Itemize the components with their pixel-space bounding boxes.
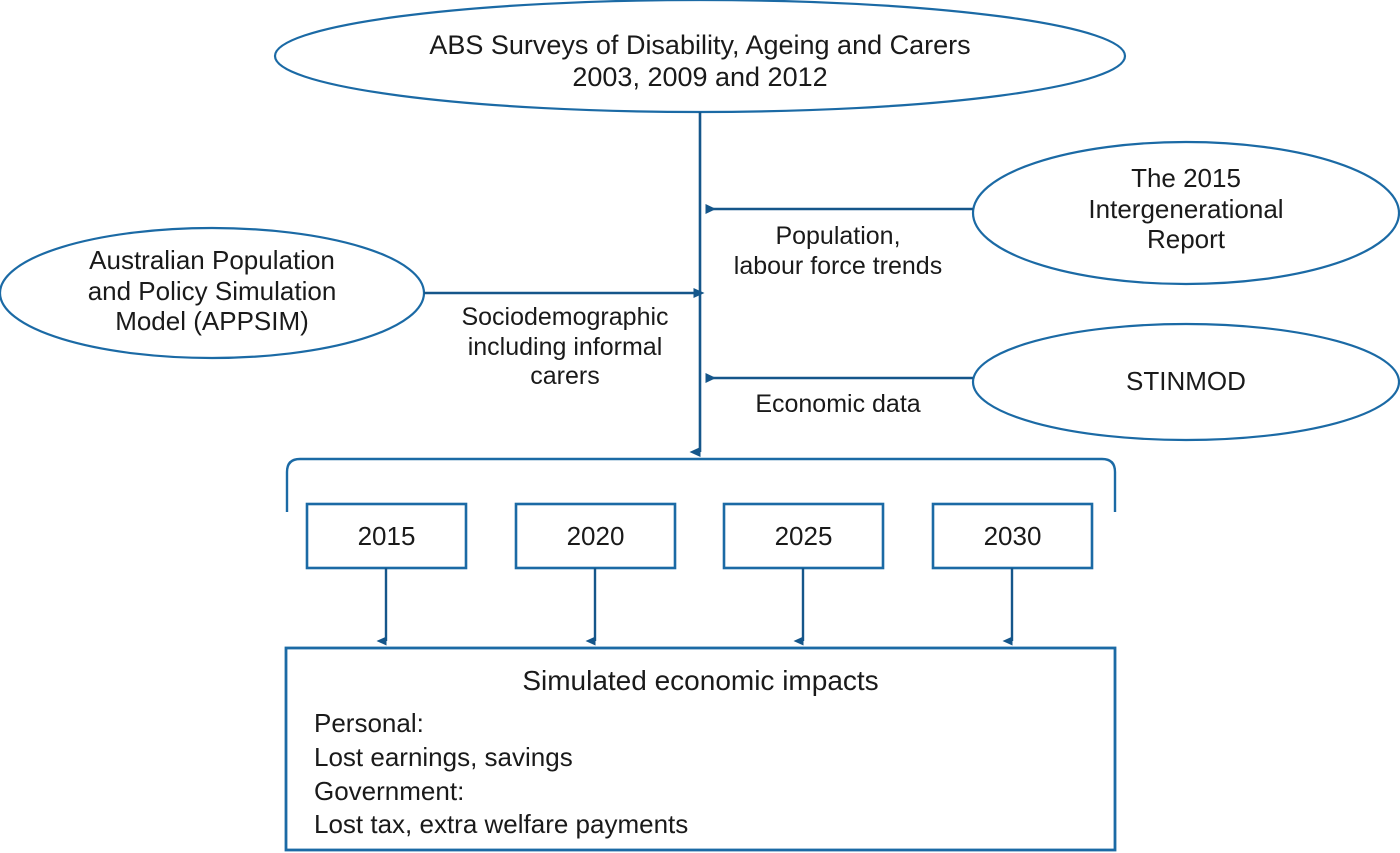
- diagram-connectors-layer: [0, 0, 1400, 853]
- appsim-ellipse: [0, 228, 424, 358]
- year-box-2025[interactable]: [724, 504, 883, 568]
- simulated-impacts-box: [286, 648, 1115, 850]
- abs-surveys-ellipse: [275, 0, 1125, 112]
- stinmod-ellipse: [973, 324, 1399, 440]
- intergenerational-report-ellipse: [973, 142, 1399, 284]
- year-box-2030[interactable]: [933, 504, 1092, 568]
- year-box-2020[interactable]: [516, 504, 675, 568]
- year-box-2015[interactable]: [307, 504, 466, 568]
- flowchart-diagram: ABS Surveys of Disability, Ageing and Ca…: [0, 0, 1400, 853]
